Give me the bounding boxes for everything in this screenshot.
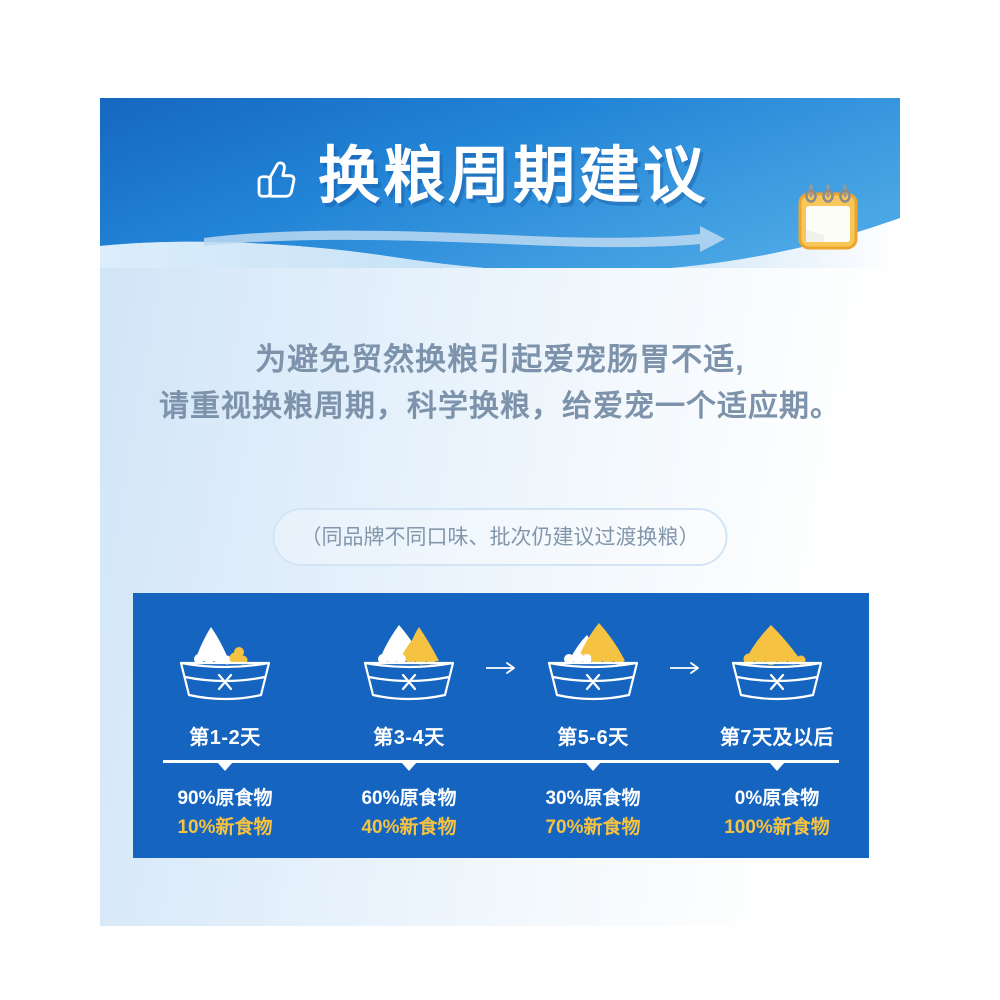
percentage-cell-4: 0%原食物 100%新食物 [685, 785, 869, 842]
new-food-percent-1: 10%新食物 [133, 814, 317, 843]
banner-title-row: 换粮周期建议 [100, 98, 900, 248]
marker-cell-1 [133, 762, 317, 771]
thumbs-up-icon [252, 154, 304, 206]
content-card: 换粮周期建议 为避免贸然换粮引起爱宠肠胃不适, 请重视换粮周期，科学换粮，给爱宠… [100, 98, 900, 926]
bowl-cell-2 [317, 615, 501, 710]
new-food-percent-4: 100%新食物 [685, 814, 869, 843]
bowls-row [133, 615, 869, 710]
intro-line-2: 请重视换粮周期，科学换粮，给爱宠一个适应期。 [100, 384, 900, 431]
percentage-cell-3: 30%原食物 70%新食物 [501, 785, 685, 842]
day-label-2: 第3-4天 [317, 721, 501, 750]
arrow-right-icon [670, 661, 704, 675]
bowl-cell-4 [685, 615, 869, 710]
triangle-marker-icon [585, 762, 601, 771]
food-bowl-icon [537, 615, 649, 707]
old-food-percent-3: 30%原食物 [501, 785, 685, 814]
old-food-percent-4: 0%原食物 [685, 785, 869, 814]
timeline-markers-row [133, 762, 869, 771]
food-bowl-icon [353, 615, 465, 707]
triangle-marker-icon [217, 762, 233, 771]
day-labels-row: 第1-2天 第3-4天 第5-6天 第7天及以后 [133, 721, 869, 750]
intro-text-block: 为避免贸然换粮引起爱宠肠胃不适, 请重视换粮周期，科学换粮，给爱宠一个适应期。 [100, 336, 900, 431]
feeding-schedule-panel: 第1-2天 第3-4天 第5-6天 第7天及以后 90%原食物 10%新食物 6… [133, 593, 869, 858]
day-label-1: 第1-2天 [133, 721, 317, 750]
arrow-right-icon [486, 661, 520, 675]
old-food-percent-1: 90%原食物 [133, 785, 317, 814]
old-food-percent-2: 60%原食物 [317, 785, 501, 814]
bowl-cell-3 [501, 615, 685, 710]
percentages-row: 90%原食物 10%新食物 60%原食物 40%新食物 30%原食物 70%新食… [133, 785, 869, 842]
bowl-cell-1 [133, 615, 317, 710]
new-food-percent-2: 40%新食物 [317, 814, 501, 843]
percentage-cell-2: 60%原食物 40%新食物 [317, 785, 501, 842]
note-pill: （同品牌不同口味、批次仍建议过渡换粮） [273, 508, 728, 566]
marker-cell-4 [685, 762, 869, 771]
food-bowl-icon [169, 615, 281, 707]
calendar-icon [794, 180, 862, 252]
new-food-percent-3: 70%新食物 [501, 814, 685, 843]
day-label-4: 第7天及以后 [685, 721, 869, 750]
food-bowl-icon [721, 615, 833, 707]
triangle-marker-icon [401, 762, 417, 771]
marker-cell-2 [317, 762, 501, 771]
page-root: 换粮周期建议 为避免贸然换粮引起爱宠肠胃不适, 请重视换粮周期，科学换粮，给爱宠… [0, 0, 1000, 1000]
percentage-cell-1: 90%原食物 10%新食物 [133, 785, 317, 842]
triangle-marker-icon [769, 762, 785, 771]
page-title: 换粮周期建议 [318, 146, 708, 208]
intro-line-1: 为避免贸然换粮引起爱宠肠胃不适, [100, 336, 900, 384]
header-banner: 换粮周期建议 [100, 98, 900, 268]
marker-cell-3 [501, 762, 685, 771]
day-label-3: 第5-6天 [501, 721, 685, 750]
